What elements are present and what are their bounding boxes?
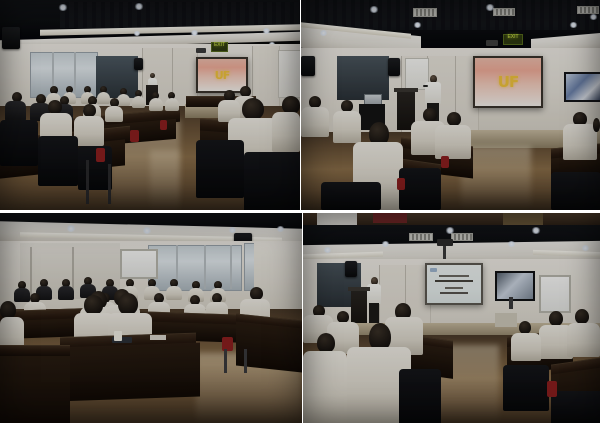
ceiling-projector xyxy=(486,40,498,46)
attendee-body xyxy=(435,125,471,159)
attendee-head xyxy=(447,112,461,126)
photo-panel-bottom-right[interactable]: Wide room view from the back; the presen… xyxy=(303,213,600,423)
attendee-body xyxy=(97,92,110,104)
downlight xyxy=(142,227,152,234)
exit-sign: EXIT xyxy=(211,42,228,52)
downlight xyxy=(369,6,379,13)
downlight xyxy=(133,31,141,36)
ceiling-vent xyxy=(493,8,515,16)
attendee-head xyxy=(242,98,264,120)
attendee-body xyxy=(74,116,104,146)
downlight xyxy=(531,227,541,234)
attendee-head xyxy=(593,118,600,132)
wall-speaker xyxy=(388,58,400,76)
wall-speaker xyxy=(134,58,143,70)
downlight xyxy=(323,247,332,253)
document xyxy=(150,335,166,340)
attendee-head xyxy=(84,295,103,315)
ceiling-vent xyxy=(413,8,437,17)
projection-screen xyxy=(425,263,483,305)
chair-leg xyxy=(244,349,247,373)
photo-collage: Rear view of a training room; rows of se… xyxy=(0,0,600,423)
attendee-body xyxy=(132,96,145,108)
presenter-legs xyxy=(369,303,379,325)
papers-on-desk xyxy=(495,313,517,327)
microphone xyxy=(423,85,428,87)
ceiling-vent xyxy=(577,6,599,14)
projector-mount xyxy=(443,246,446,260)
attendee-body xyxy=(166,286,182,300)
chair-red-accent xyxy=(160,120,167,130)
whiteboard xyxy=(539,275,571,313)
chair xyxy=(0,120,38,166)
downlight xyxy=(507,241,516,247)
chair-red-accent xyxy=(96,148,105,162)
attendee-head xyxy=(317,333,335,353)
wall-mounted-tv xyxy=(495,271,535,301)
attendee-body xyxy=(511,333,541,361)
chair-red-accent xyxy=(397,178,405,190)
chair-red-accent xyxy=(130,130,139,142)
photo-panel-bottom-left[interactable]: Front view of the audience; employees in… xyxy=(0,213,302,423)
downlight xyxy=(190,30,199,36)
window-mullion xyxy=(74,52,76,96)
ceiling-slat-texture xyxy=(301,0,600,30)
exit-sign: EXIT xyxy=(503,34,523,45)
attendee-body xyxy=(333,111,361,143)
downlight xyxy=(589,14,598,20)
whiteboard xyxy=(278,50,300,98)
exit-sign-label: EXIT xyxy=(504,35,522,40)
downlight xyxy=(262,28,271,34)
attendee-head xyxy=(575,309,589,324)
attendee-body xyxy=(14,288,30,302)
chair-leg xyxy=(224,349,227,373)
ceiling-speaker xyxy=(2,27,20,49)
wall-speaker xyxy=(345,261,357,277)
chair xyxy=(551,391,600,423)
chair xyxy=(551,172,600,210)
downlight xyxy=(485,4,495,11)
downlight xyxy=(381,241,390,247)
attendee-body xyxy=(5,101,26,121)
attendee-head xyxy=(549,311,563,326)
chair xyxy=(399,369,441,423)
downlight xyxy=(134,3,144,10)
screen-logo: UF xyxy=(215,69,229,82)
paper-cup xyxy=(114,331,122,341)
window-mullion xyxy=(204,245,206,289)
chair-leg xyxy=(86,160,89,204)
podium-top xyxy=(394,88,418,92)
chair xyxy=(244,152,300,210)
attendee-body xyxy=(165,98,179,111)
attendee-head xyxy=(423,108,437,122)
attendee-body xyxy=(567,323,600,357)
window-mullion xyxy=(230,245,232,289)
attendee-body xyxy=(58,286,74,300)
wall-seam xyxy=(30,247,32,297)
attendee-body xyxy=(272,112,300,152)
side-desk-panel xyxy=(0,351,70,423)
ceiling-vent xyxy=(451,233,473,241)
ceiling-projector xyxy=(437,239,453,246)
downlight xyxy=(58,4,68,11)
attendee-body xyxy=(117,94,130,106)
downlight xyxy=(581,245,590,251)
exit-sign-label: EXIT xyxy=(212,43,227,48)
attendee-body xyxy=(303,351,347,423)
chair xyxy=(321,182,381,210)
front-desk-panel xyxy=(56,342,200,401)
reflection-highlight xyxy=(317,213,357,225)
chair-red-accent xyxy=(547,381,557,397)
tv-stand xyxy=(509,297,513,309)
slide-logo-mark xyxy=(430,268,437,272)
attendee-head xyxy=(48,100,62,114)
floor-reflection xyxy=(150,150,180,210)
ceiling-vent xyxy=(409,233,433,241)
attendee-body xyxy=(105,106,123,122)
attendee-body xyxy=(149,98,163,111)
ceiling-speaker xyxy=(301,56,315,76)
chair xyxy=(196,140,244,198)
downlight xyxy=(66,225,76,232)
chair xyxy=(78,146,112,190)
podium-top xyxy=(348,287,370,291)
downlight xyxy=(319,30,328,36)
chair xyxy=(38,136,78,186)
attendee-body xyxy=(301,107,329,137)
wall-panel xyxy=(252,46,280,106)
reflection-highlight xyxy=(373,213,407,223)
wall-mounted-tv xyxy=(564,72,600,102)
downlight xyxy=(413,22,422,28)
chair-leg xyxy=(108,164,111,204)
side-desk-top xyxy=(0,345,70,356)
chair-red-accent xyxy=(441,156,449,168)
downlight xyxy=(276,226,285,232)
downlight xyxy=(445,227,455,234)
whiteboard xyxy=(120,249,158,279)
projection-screen: UF xyxy=(473,56,543,108)
reflection-highlight xyxy=(503,213,543,225)
photo-panel-top-left[interactable]: Rear view of a training room; rows of se… xyxy=(0,0,300,210)
attendee-head xyxy=(118,293,138,315)
downlight xyxy=(569,22,578,28)
ceiling-projector xyxy=(196,48,206,53)
screen-logo: UF xyxy=(498,73,518,91)
attendee-body xyxy=(563,124,597,160)
chair xyxy=(503,365,549,411)
chair xyxy=(399,168,441,210)
photo-panel-top-right[interactable]: A presenter in a white shirt stands hold… xyxy=(301,0,600,210)
